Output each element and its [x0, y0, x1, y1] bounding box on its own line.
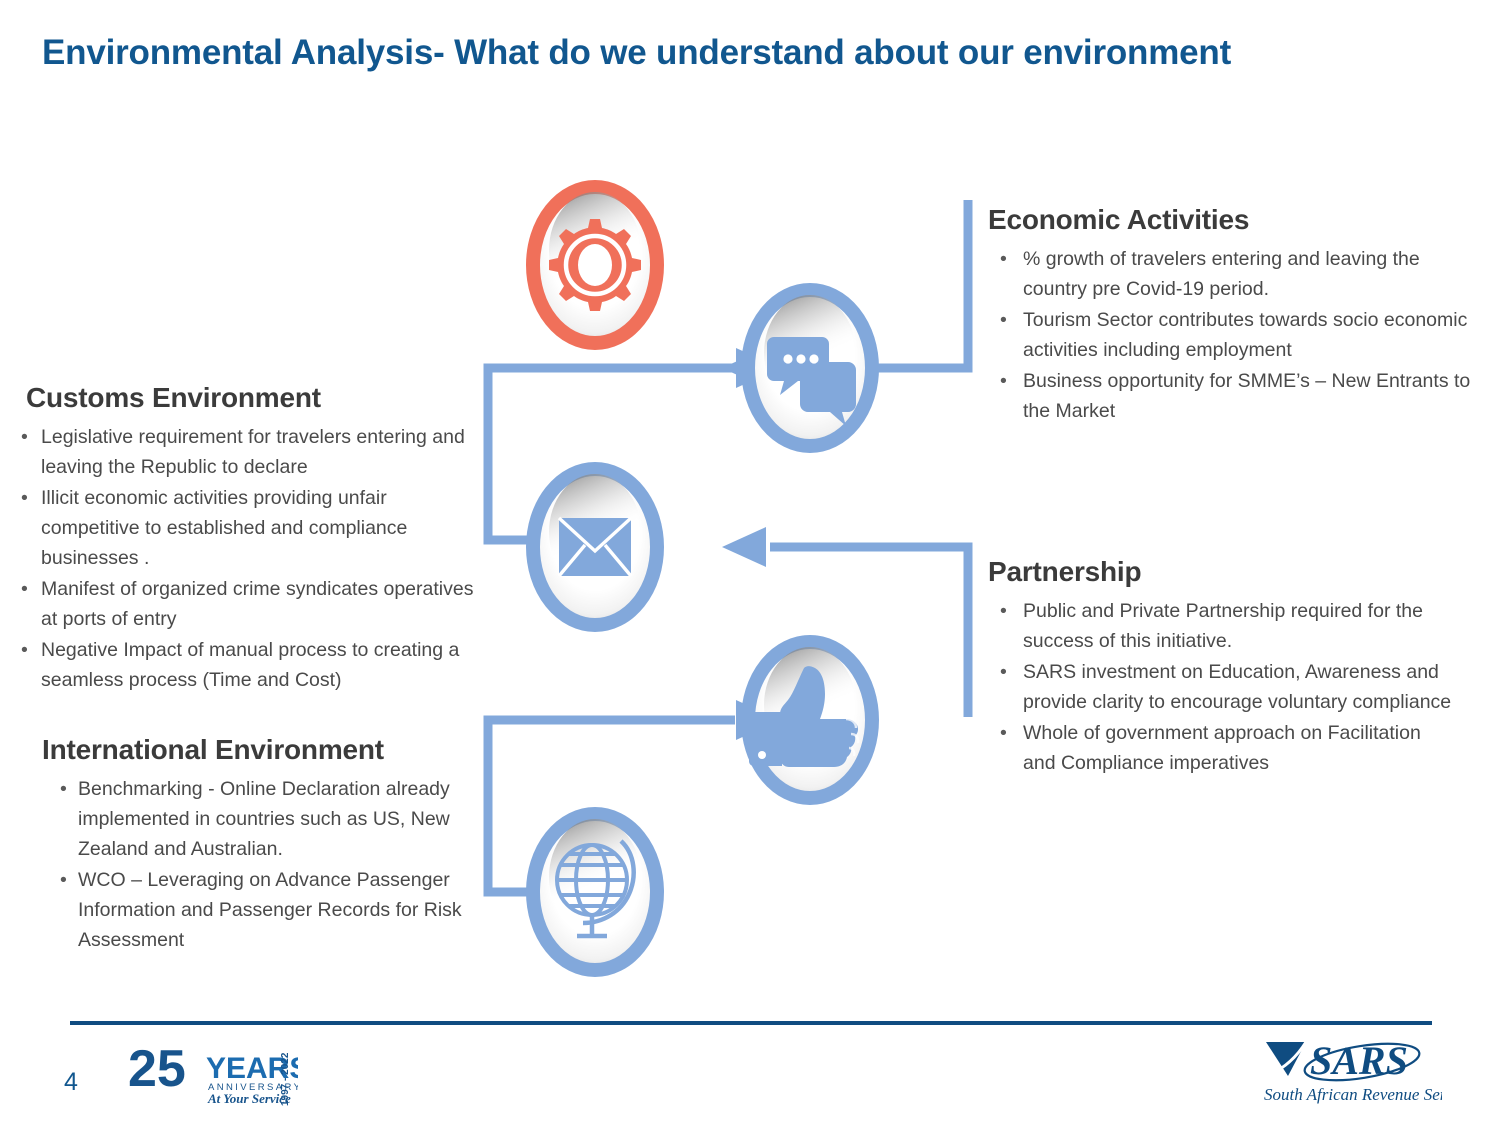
anniversary-number: 25	[128, 1040, 186, 1098]
list-item-text: Public and Private Partnership required …	[1023, 600, 1423, 652]
bullet-glyph: •	[1000, 244, 1007, 274]
bullet-glyph: •	[21, 422, 28, 452]
customs-environment-list: •Legislative requirement for travelers e…	[8, 422, 478, 695]
list-item: •% growth of travelers entering and leav…	[988, 244, 1478, 304]
bullet-glyph: •	[60, 774, 67, 804]
bullet-glyph: •	[21, 635, 28, 665]
node-gear[interactable]	[533, 187, 657, 343]
list-item-text: Benchmarking - Online Declaration alread…	[78, 778, 450, 860]
list-item-text: Tourism Sector contributes towards socio…	[1023, 309, 1467, 361]
gear-icon	[549, 219, 641, 311]
connector-node3-to-node2	[488, 368, 722, 470]
slide-canvas: Environmental Analysis- What do we under…	[0, 0, 1500, 1125]
process-flow-diagram	[470, 100, 1000, 1000]
economic-activities-heading: Economic Activities	[988, 204, 1478, 236]
list-item: •Illicit economic activities providing u…	[8, 483, 478, 573]
list-item-text: SARS investment on Education, Awareness …	[1023, 661, 1451, 713]
footer-divider	[70, 1021, 1432, 1025]
partnership-block: Partnership •Public and Private Partners…	[988, 556, 1458, 779]
list-item-text: Legislative requirement for travelers en…	[41, 426, 465, 478]
anniversary-logo: 25 YEARS ANNIVERSARY At Your Service 199…	[128, 1038, 298, 1108]
list-item: •WCO – Leveraging on Advance Passenger I…	[30, 865, 470, 955]
customs-environment-block: Customs Environment •Legislative require…	[8, 382, 478, 696]
list-item: •Manifest of organized crime syndicates …	[8, 574, 478, 634]
bullet-glyph: •	[1000, 657, 1007, 687]
bullet-glyph: •	[1000, 366, 1007, 396]
list-item-text: Business opportunity for SMME’s – New En…	[1023, 370, 1470, 422]
list-item: •Tourism Sector contributes towards soci…	[988, 305, 1478, 365]
sars-subtitle: South African Revenue Service	[1264, 1085, 1442, 1104]
economic-activities-list: •% growth of travelers entering and leav…	[988, 244, 1478, 426]
node-globe[interactable]	[533, 814, 657, 970]
bullet-glyph: •	[1000, 596, 1007, 626]
list-item-text: Negative Impact of manual process to cre…	[41, 639, 459, 691]
anniversary-tagline: At Your Service	[207, 1091, 291, 1106]
customs-environment-heading: Customs Environment	[26, 382, 478, 414]
international-environment-heading: International Environment	[42, 734, 470, 766]
envelope-icon	[559, 518, 631, 576]
sars-chevron-icon	[1266, 1042, 1306, 1076]
bullet-glyph: •	[1000, 718, 1007, 748]
bullet-glyph: •	[21, 483, 28, 513]
economic-activities-block: Economic Activities •% growth of travele…	[988, 204, 1478, 427]
list-item: •Whole of government approach on Facilit…	[988, 718, 1458, 778]
sars-logo: SARS South African Revenue Service	[1262, 1032, 1442, 1110]
page-title: Environmental Analysis- What do we under…	[42, 33, 1442, 73]
bullet-glyph: •	[21, 574, 28, 604]
list-item-text: Whole of government approach on Facilita…	[1023, 722, 1421, 774]
page-number: 4	[64, 1068, 78, 1097]
list-item: •Benchmarking - Online Declaration alrea…	[30, 774, 470, 864]
international-environment-list: •Benchmarking - Online Declaration alrea…	[30, 774, 470, 955]
list-item: •Public and Private Partnership required…	[988, 596, 1458, 656]
list-item: •SARS investment on Education, Awareness…	[988, 657, 1458, 717]
node-envelope[interactable]	[533, 469, 657, 625]
bullet-glyph: •	[60, 865, 67, 895]
partnership-list: •Public and Private Partnership required…	[988, 596, 1458, 778]
node-thumbs-up[interactable]	[748, 642, 872, 798]
anniversary-year-range: 1997 - 2022	[280, 1052, 291, 1106]
list-item-text: WCO – Leveraging on Advance Passenger In…	[78, 869, 462, 951]
list-item-text: Illicit economic activities providing un…	[41, 487, 407, 569]
partnership-heading: Partnership	[988, 556, 1458, 588]
list-item-text: % growth of travelers entering and leavi…	[1023, 248, 1420, 300]
list-item-text: Manifest of organized crime syndicates o…	[41, 578, 473, 630]
list-item: •Business opportunity for SMME’s – New E…	[988, 366, 1478, 426]
bullet-glyph: •	[1000, 305, 1007, 335]
international-environment-block: International Environment •Benchmarking …	[30, 734, 470, 956]
node-chat[interactable]	[748, 290, 872, 446]
list-item: •Legislative requirement for travelers e…	[8, 422, 478, 482]
list-item: •Negative Impact of manual process to cr…	[8, 635, 478, 695]
